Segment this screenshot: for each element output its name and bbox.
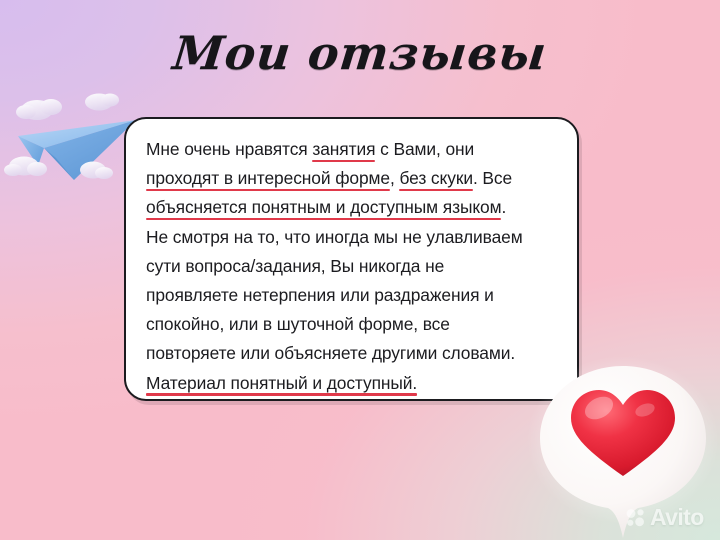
review-line: проходят в интересной форме, без скуки. … <box>146 164 565 193</box>
highlighted-phrase: без скуки <box>399 168 472 188</box>
highlighted-phrase: проходят в интересной форме <box>146 168 390 188</box>
review-text-run: с Вами, они <box>375 139 474 159</box>
review-text-run: Мне очень нравятся <box>146 139 312 159</box>
avito-dots-logo <box>626 508 645 527</box>
review-text-run: . Все <box>473 168 512 188</box>
avito-watermark: Avito <box>626 506 704 529</box>
review-line: спокойно, или в шуточной форме, все <box>146 310 565 339</box>
paper-plane-decoration <box>4 88 144 188</box>
review-text-run: повторяете или объясняете другими словам… <box>146 343 515 363</box>
page-title: Мои отзывы <box>0 26 720 80</box>
highlighted-phrase: занятия <box>312 139 375 159</box>
avito-watermark-label: Avito <box>650 506 704 529</box>
cloud-icon <box>80 162 113 180</box>
review-text-run: проявляете нетерпения или раздражения и <box>146 285 494 305</box>
cloud-icon <box>85 94 119 111</box>
cloud-icon <box>16 99 62 120</box>
review-line: объясняется понятным и доступным языком. <box>146 193 565 222</box>
review-line: Материал понятный и доступный. <box>146 369 565 398</box>
review-line: Мне очень нравятся занятия с Вами, они <box>146 135 565 164</box>
review-text-run: спокойно, или в шуточной форме, все <box>146 314 450 334</box>
paper-plane-icon <box>4 88 144 188</box>
slide-canvas: Мои отзывы <box>0 0 720 540</box>
review-text: Мне очень нравятся занятия с Вами, онипр… <box>146 135 565 398</box>
review-line: сути вопроса/задания, Вы никогда не <box>146 252 565 281</box>
review-text-run: сути вопроса/задания, Вы никогда не <box>146 256 444 276</box>
highlighted-phrase: объясняется понятным и доступным языком <box>146 197 501 217</box>
review-text-run: . <box>501 197 506 217</box>
review-card: Мне очень нравятся занятия с Вами, онипр… <box>124 117 579 401</box>
review-text-run: Не смотря на то, что иногда мы не улавли… <box>146 227 523 247</box>
review-line: Не смотря на то, что иногда мы не улавли… <box>146 223 565 252</box>
highlighted-phrase: Материал понятный и доступный. <box>146 373 417 393</box>
review-line: проявляете нетерпения или раздражения и <box>146 281 565 310</box>
review-line: повторяете или объясняете другими словам… <box>146 339 565 368</box>
cloud-icon <box>4 157 47 177</box>
